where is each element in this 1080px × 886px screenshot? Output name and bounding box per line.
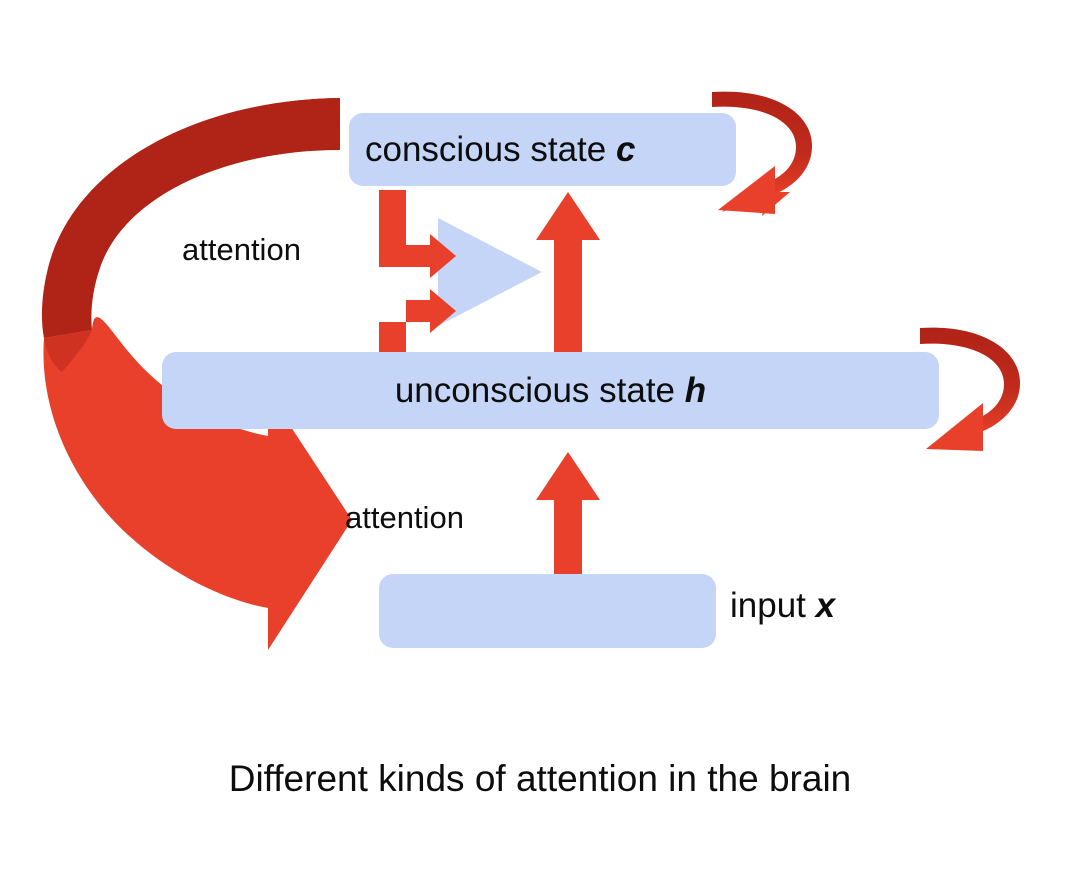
diagram-canvas: conscious state c unconscious state h in… <box>0 0 1080 886</box>
unconscious-to-conscious-arrow <box>536 192 600 356</box>
node-input-variable: x <box>816 586 835 625</box>
input-to-unconscious-arrow <box>536 452 600 581</box>
node-unconscious-state-label: unconscious state h <box>395 373 706 408</box>
node-conscious-state-label: conscious state c <box>365 132 635 167</box>
node-input <box>379 574 716 648</box>
node-unconscious-state-variable: h <box>685 371 706 410</box>
attention-label-top: attention <box>182 234 301 265</box>
attention-label-bottom: attention <box>345 502 464 533</box>
node-unconscious-state: unconscious state h <box>162 352 939 429</box>
node-conscious-state-variable: c <box>616 130 635 169</box>
node-input-label: input x <box>730 588 835 623</box>
node-conscious-state: conscious state c <box>349 113 736 186</box>
figure-caption: Different kinds of attention in the brai… <box>0 760 1080 797</box>
